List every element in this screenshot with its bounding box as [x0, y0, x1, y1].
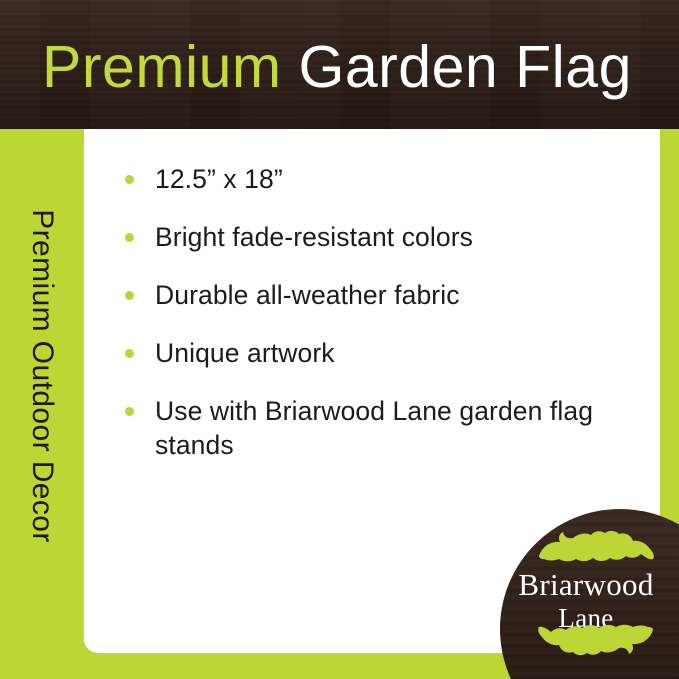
list-item: Bright fade-resistant colors [122, 220, 622, 254]
sidebar-caption: Premium Outdoor Decor [0, 129, 84, 653]
list-item: 12.5” x 18” [122, 162, 622, 196]
brand-name-primary: Briarwood [500, 567, 672, 603]
list-item: Unique artwork [122, 336, 622, 370]
feature-text: Durable all-weather fabric [155, 280, 460, 310]
feature-list: 12.5” x 18” Bright fade-resistant colors… [122, 162, 622, 486]
sidebar-caption-label: Premium Outdoor Decor [25, 209, 59, 543]
page-title-plain: Garden Flag [298, 34, 631, 100]
list-item: Use with Briarwood Lane garden flag stan… [122, 394, 622, 462]
feature-text: 12.5” x 18” [155, 164, 283, 194]
feature-text: Use with Briarwood Lane garden flag stan… [155, 396, 593, 460]
feature-text: Unique artwork [155, 338, 335, 368]
list-item: Durable all-weather fabric [122, 278, 622, 312]
header-bar: Premium Garden Flag [0, 0, 679, 129]
page-title-accent: Premium [42, 34, 282, 100]
oak-leaf-icon [536, 529, 656, 565]
oak-leaf-icon [536, 621, 656, 657]
product-info-card: Premium Garden Flag Premium Outdoor Deco… [0, 0, 679, 679]
page-title: Premium Garden Flag [42, 33, 632, 101]
feature-text: Bright fade-resistant colors [155, 222, 473, 252]
